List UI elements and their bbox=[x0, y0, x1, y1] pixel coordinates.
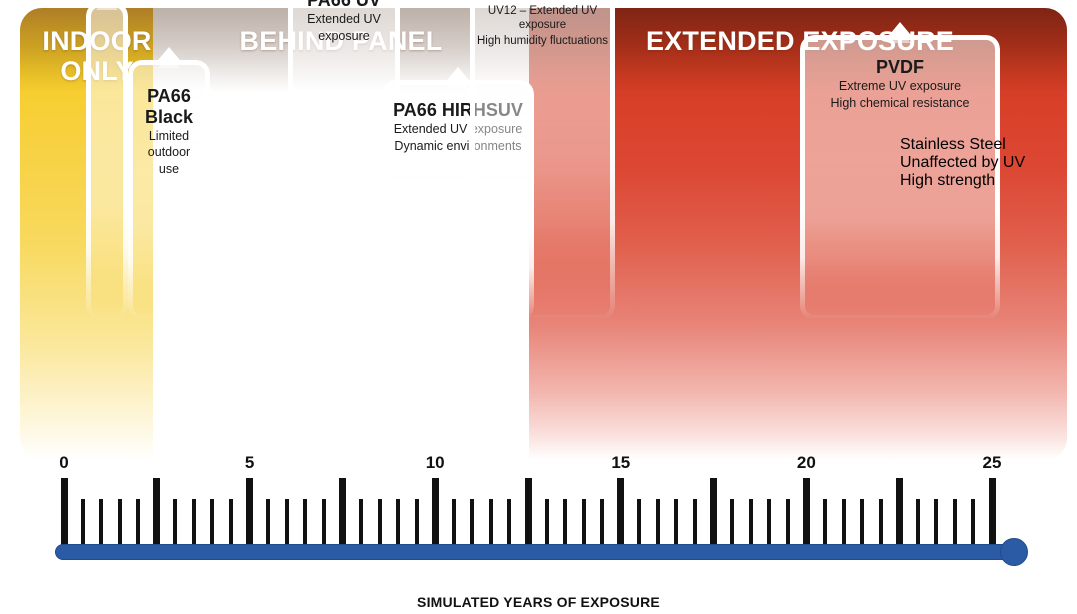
axis-tick-major bbox=[61, 478, 68, 552]
infographic-root: INDOOR ONLY BEHIND PANEL EXTENDED EXPOSU… bbox=[0, 0, 1077, 614]
axis-tick-major bbox=[153, 478, 160, 552]
axis-tick-label: 15 bbox=[601, 453, 641, 473]
axis-tick-label: 20 bbox=[786, 453, 826, 473]
axis-tick-major bbox=[339, 478, 346, 552]
axis-tick-label: 0 bbox=[44, 453, 84, 473]
axis-tick-label: 10 bbox=[415, 453, 455, 473]
axis-tick-major bbox=[617, 478, 624, 552]
axis-rail-end-cap bbox=[1000, 538, 1028, 566]
axis-rail bbox=[55, 544, 1015, 560]
axis-tick-major bbox=[896, 478, 903, 552]
axis-layer: 0510152025 SIMULATED YEARS OF EXPOSURE bbox=[0, 0, 1077, 614]
axis-tick-major bbox=[246, 478, 253, 552]
axis-tick-major bbox=[710, 478, 717, 552]
axis-caption: SIMULATED YEARS OF EXPOSURE bbox=[0, 594, 1077, 610]
axis-tick-major bbox=[989, 478, 996, 552]
axis-tick-major bbox=[803, 478, 810, 552]
axis-tick-major bbox=[525, 478, 532, 552]
axis-tick-label: 25 bbox=[972, 453, 1012, 473]
axis-tick-major bbox=[432, 478, 439, 552]
axis-tick-label: 5 bbox=[230, 453, 270, 473]
